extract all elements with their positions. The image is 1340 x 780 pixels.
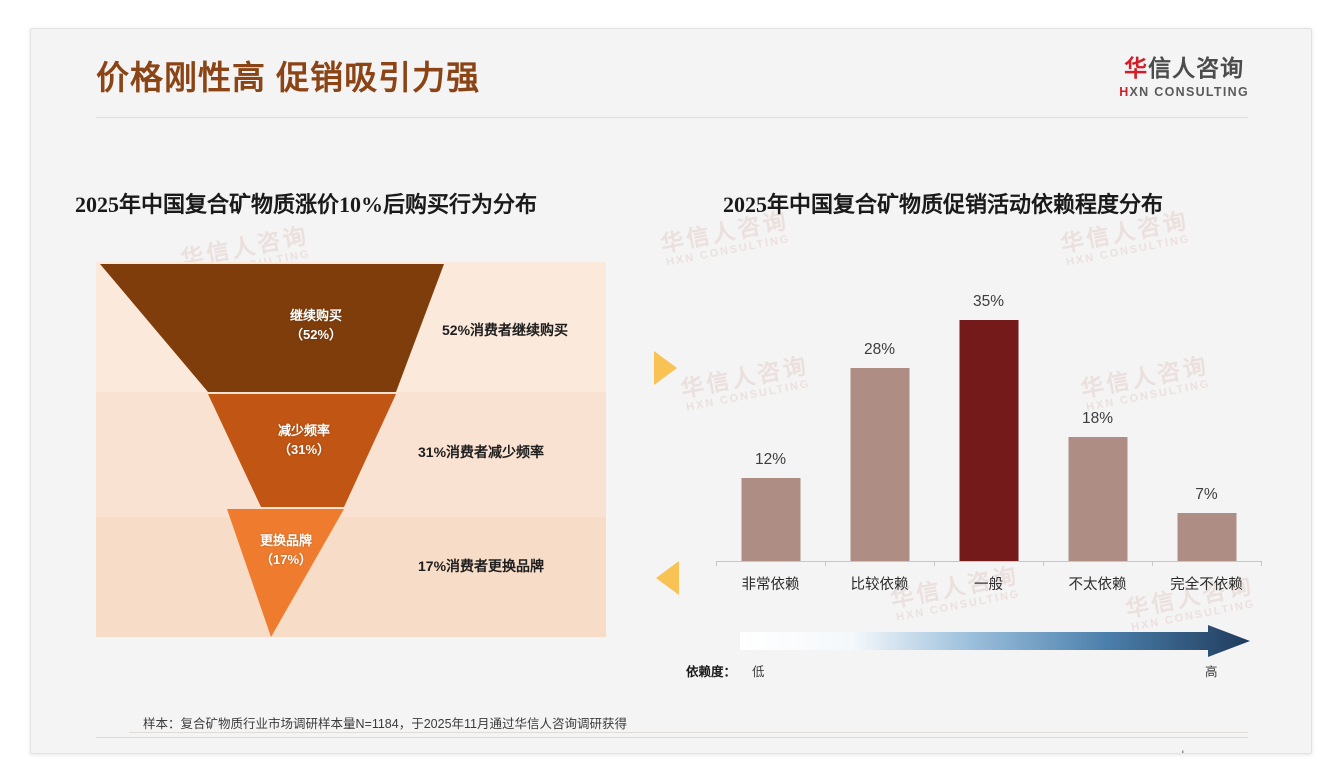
play-right-icon [654,351,677,385]
gradient-arrow-icon [740,625,1250,659]
logo-en-first: H [1119,85,1129,99]
header-divider [96,117,1248,118]
x-axis-category-label: 一般 [934,573,1043,594]
bar-value-label: 7% [1195,486,1217,504]
funnel-note-2: 31%消费者减少频率 [418,442,544,462]
funnel-segment-2-label: 减少频率 （31%） [224,422,384,460]
x-axis-category-label: 不太依赖 [1043,573,1152,594]
bar-value-label: 35% [973,293,1004,311]
bar-column: 18% [1043,285,1152,561]
bar-column: 12% [716,285,825,561]
bar-非常依赖[interactable] [741,478,800,561]
left-chart-title: 2025年中国复合矿物质涨价10%后购买行为分布 [75,187,537,219]
logo-en-rest: XN CONSULTING [1130,85,1249,99]
funnel-chart: 继续购买 （52%） 减少频率 （31%） 更换品牌 （17%） 52%消费者继… [96,262,606,637]
x-axis-category-label: 非常依赖 [716,573,825,594]
slide-canvas: 华信人咨询 HXN CONSULTING 华信人咨询 HXN CONSULTIN… [30,28,1312,754]
page-title: 价格刚性高 促销吸引力强 [96,51,480,99]
x-axis-tick [716,561,717,566]
x-axis-line [716,561,1261,562]
funnel-segment-1-name: 继续购买 [236,307,396,326]
logo-cn-rest: 信人咨询 [1148,55,1244,81]
funnel-segment-3-name: 更换品牌 [206,532,366,551]
legend-caption: 依赖度： [686,661,736,680]
slide-header: 价格刚性高 促销吸引力强 华信人咨询 HXN CONSULTING [31,29,1311,121]
bar-value-label: 12% [755,451,786,469]
bar-column: 35% [934,285,1043,561]
sample-footnote: 样本：复合矿物质行业市场调研样本量N=1184，于2025年11月通过华信人咨询… [143,713,627,732]
funnel-segment-2-value: （31%） [224,441,384,460]
funnel-segment-1-value: （52%） [236,326,396,345]
logo-chinese-text: 华信人咨询 [1119,57,1249,80]
bar-column: 28% [825,285,934,561]
bar-plot-area: 12% 28% 35% 18% 7% [716,285,1261,561]
funnel-segment-3-label: 更换品牌 （17%） [206,532,366,570]
x-axis-tick [1152,561,1153,566]
x-axis-category-label: 完全不依赖 [1152,573,1261,594]
bar-不太依赖[interactable] [1068,437,1127,561]
x-axis-tick [1043,561,1044,566]
bar-比较依赖[interactable] [850,368,909,561]
legend-low-label: 低 [752,661,765,680]
funnel-note-3: 17%消费者更换品牌 [418,556,544,576]
dependence-scale-legend: 依赖度： 低 高 [686,625,1266,687]
logo-english-text: HXN CONSULTING [1119,86,1249,99]
footer-divider [96,737,1248,738]
funnel-note-1: 52%消费者继续购买 [442,320,568,340]
x-axis-tick [1261,561,1262,566]
right-chart-title: 2025年中国复合矿物质促销活动依赖程度分布 [723,187,1163,219]
watermark-en: HXN CONSULTING [1064,233,1194,270]
play-left-icon [656,561,679,595]
funnel-segment-1-label: 继续购买 （52%） [236,307,396,345]
legend-high-label: 高 [1205,661,1218,680]
footer-website[interactable]: www.hxrcon.com [1152,749,1246,754]
bar-完全不依赖[interactable] [1177,513,1236,561]
x-axis-category-label: 比较依赖 [825,573,934,594]
bar-一般[interactable] [959,320,1018,561]
funnel-segment-3-value: （17%） [206,551,366,570]
x-axis-tick [934,561,935,566]
bar-value-label: 28% [864,341,895,359]
logo-cn-first: 华 [1124,55,1148,81]
footer-copyright: ©2026.1 HXR华信人咨询 [97,749,237,754]
dependence-bar-chart: 12% 28% 35% 18% 7% [686,279,1266,609]
company-logo: 华信人咨询 HXN CONSULTING [1119,57,1249,99]
bar-column: 7% [1152,285,1261,561]
x-axis-tick [825,561,826,566]
bar-value-label: 18% [1082,410,1113,428]
funnel-segment-2-name: 减少频率 [224,422,384,441]
footnote-divider [129,732,1248,733]
watermark-en: HXN CONSULTING [664,233,794,270]
